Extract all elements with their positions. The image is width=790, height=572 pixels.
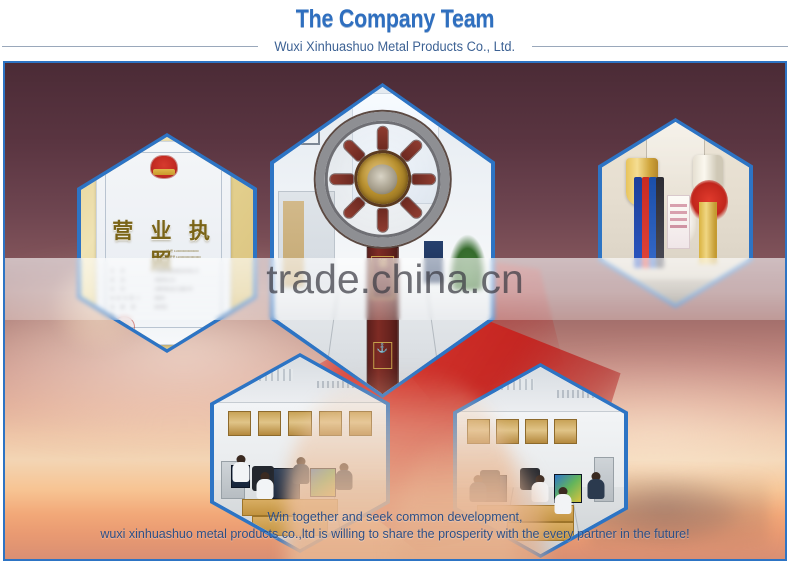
license-field-value: 张志华 [155, 294, 217, 303]
gallery-frame: 营 业 执 照 编 号 110000000000000 注册号 11000000… [3, 61, 787, 561]
wood-panel [283, 201, 305, 287]
slogan-line-1: Win together and seek common development… [5, 509, 785, 526]
license-serial: 编 号 110000000000000 注册号 110000000000000 [166, 249, 224, 260]
license-field-value: 江苏鑫华硅金属制品有限公司 [155, 267, 217, 276]
ship-wheel-icon [315, 112, 450, 247]
license-field-value: 无锡市惠山区工业园10号 [155, 285, 217, 294]
plaque: 領 [371, 256, 395, 299]
gallery-cell-ship-wheel[interactable]: 領 ⚓ [270, 83, 495, 398]
ribbon-black [656, 177, 664, 268]
photo-business-license: 营 业 执 照 编 号 110000000000000 注册号 11000000… [81, 137, 253, 349]
wall-frame [525, 419, 548, 443]
license-field-key: 类 型 [111, 276, 145, 285]
slogan-line-2: wuxi xinhuashuo metal products co.,ltd i… [5, 526, 785, 543]
employee [233, 455, 249, 479]
company-team-banner: The Company Team Wuxi Xinhuashuo Metal P… [0, 0, 790, 572]
divider-right [532, 46, 788, 47]
license-title: 营 业 执 照 [97, 215, 229, 275]
license-field-key: 法定代表人 [111, 294, 145, 303]
license-field-row: 住 所无锡市惠山区工业园10号 [111, 285, 217, 294]
hexagon-photo-clip: 領 ⚓ [274, 87, 491, 394]
company-name: Wuxi Xinhuashuo Metal Products Co., Ltd. [271, 39, 519, 54]
wall-frame [258, 411, 281, 436]
shelf [602, 279, 749, 304]
license-paper: 营 业 执 照 编 号 110000000000000 注册号 11000000… [96, 141, 230, 345]
license-field-key: 住 所 [111, 285, 145, 294]
certificate [667, 195, 691, 250]
hexagon-photo-clip: 营 业 执 照 编 号 110000000000000 注册号 11000000… [81, 137, 253, 349]
header: The Company Team Wuxi Xinhuashuo Metal P… [0, 0, 790, 60]
wall-frame [554, 419, 577, 443]
page-title: The Company Team [55, 5, 734, 34]
trophy-tall-icon [699, 202, 717, 264]
gallery-cell-trophies[interactable] [598, 118, 753, 308]
employee [587, 472, 605, 498]
license-field-value: 800万元 [155, 303, 217, 321]
photo-trophies [602, 122, 749, 304]
divider-left [2, 46, 258, 47]
national-emblem-icon [151, 156, 177, 178]
wall-frame [228, 411, 251, 436]
wheel-hub [357, 154, 408, 205]
license-field-key: 名 称 [111, 267, 145, 276]
subtitle-row: Wuxi Xinhuashuo Metal Products Co., Ltd. [0, 37, 790, 55]
hexagon-photo-clip [602, 122, 749, 304]
license-field-row: 名 称江苏鑫华硅金属制品有限公司 [111, 267, 217, 276]
slogan: Win together and seek common development… [5, 509, 785, 543]
license-serial-2: 注册号 110000000000000 [166, 255, 224, 261]
photo-ship-wheel: 領 ⚓ [274, 87, 491, 394]
gallery-cell-business-license[interactable]: 营 业 执 照 编 号 110000000000000 注册号 11000000… [77, 133, 257, 353]
wall-poster [424, 241, 444, 284]
employee [254, 472, 276, 502]
license-fields: 名 称江苏鑫华硅金属制品有限公司 类 型有限责任公司 住 所无锡市惠山区工业园1… [111, 267, 217, 320]
license-field-row: 法定代表人张志华 [111, 294, 217, 303]
license-field-row: 类 型有限责任公司 [111, 276, 217, 285]
license-field-value: 有限责任公司 [155, 276, 217, 285]
